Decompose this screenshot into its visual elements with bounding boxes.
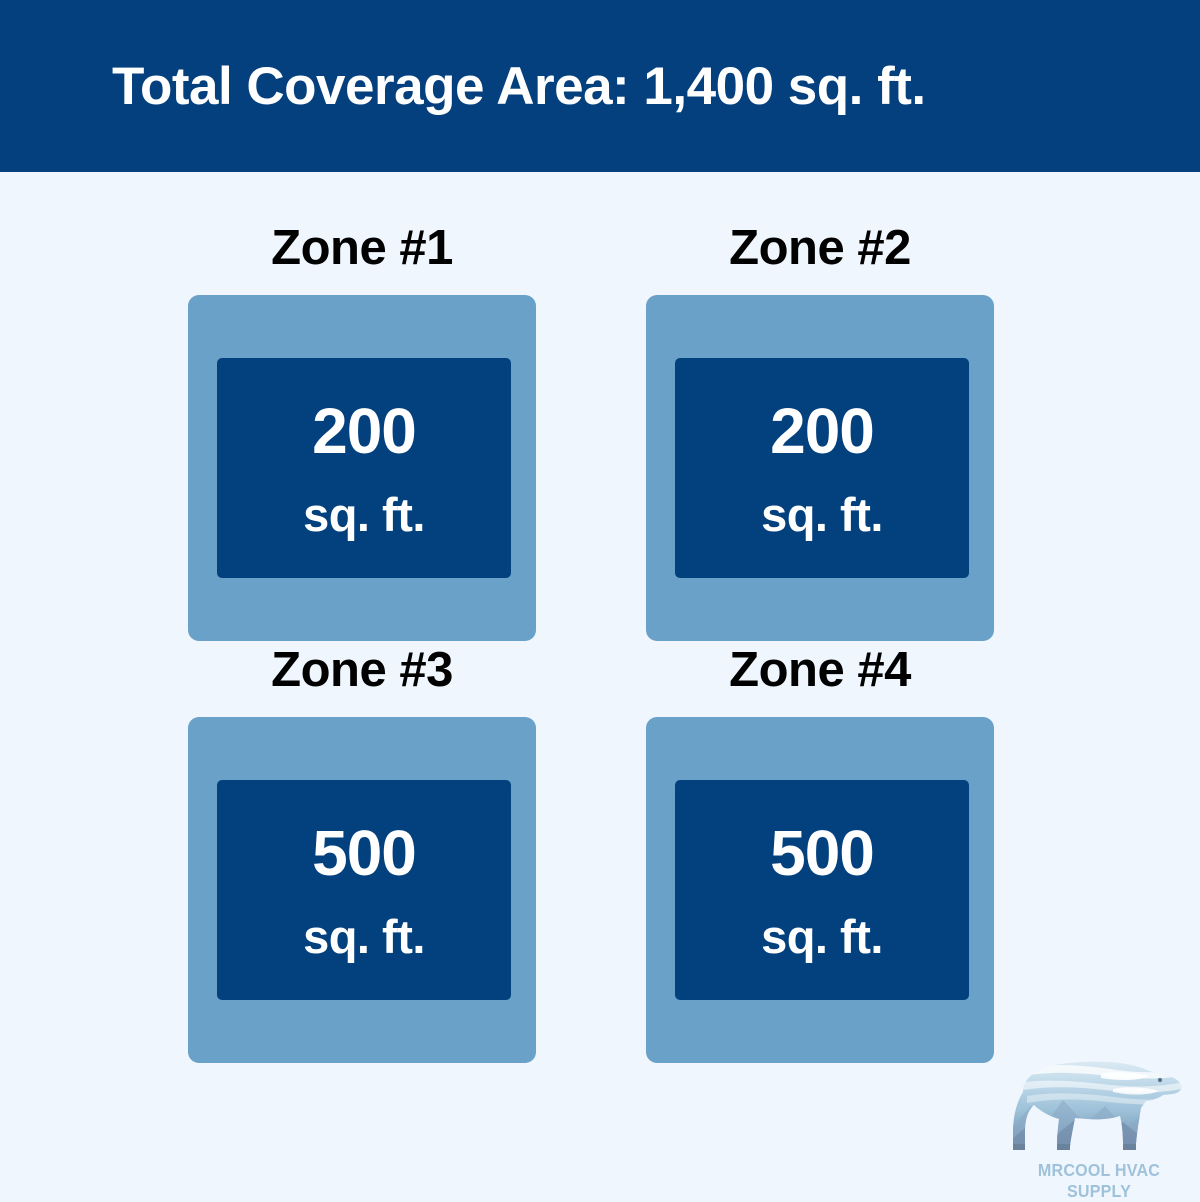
- zone-inner-box-1: 200 sq. ft.: [217, 358, 511, 578]
- zone-card-4[interactable]: Zone #4 500 sq. ft.: [646, 646, 994, 1063]
- zone-value-1: 200: [312, 399, 416, 463]
- zone-card-3[interactable]: Zone #3 500 sq. ft.: [188, 646, 536, 1063]
- page-title: Total Coverage Area: 1,400 sq. ft.: [0, 60, 926, 113]
- zone-grid: Zone #1 200 sq. ft. Zone #2 200 sq. ft. …: [0, 172, 1200, 1200]
- zone-unit-1: sq. ft.: [303, 491, 425, 538]
- polar-bear-icon: [1013, 1048, 1185, 1156]
- zone-outer-box-3: 500 sq. ft.: [188, 717, 536, 1063]
- header-band: Total Coverage Area: 1,400 sq. ft.: [0, 0, 1200, 172]
- brand-logo: MRCOOL HVAC SUPPLY: [1003, 1048, 1195, 1193]
- zone-outer-box-2: 200 sq. ft.: [646, 295, 994, 641]
- zone-value-4: 500: [770, 821, 874, 885]
- zone-inner-box-4: 500 sq. ft.: [675, 780, 969, 1000]
- zone-inner-box-3: 500 sq. ft.: [217, 780, 511, 1000]
- zone-inner-box-2: 200 sq. ft.: [675, 358, 969, 578]
- zone-value-2: 200: [770, 399, 874, 463]
- zone-unit-4: sq. ft.: [761, 913, 883, 960]
- zone-unit-2: sq. ft.: [761, 491, 883, 538]
- zone-unit-3: sq. ft.: [303, 913, 425, 960]
- zone-label-2: Zone #2: [646, 224, 994, 282]
- zone-outer-box-1: 200 sq. ft.: [188, 295, 536, 641]
- brand-name: MRCOOL HVAC SUPPLY: [1011, 1160, 1188, 1202]
- zone-label-3: Zone #3: [188, 646, 536, 704]
- zone-label-4: Zone #4: [646, 646, 994, 704]
- zone-card-1[interactable]: Zone #1 200 sq. ft.: [188, 224, 536, 641]
- zone-label-1: Zone #1: [188, 224, 536, 282]
- zone-outer-box-4: 500 sq. ft.: [646, 717, 994, 1063]
- zone-card-2[interactable]: Zone #2 200 sq. ft.: [646, 224, 994, 641]
- zone-value-3: 500: [312, 821, 416, 885]
